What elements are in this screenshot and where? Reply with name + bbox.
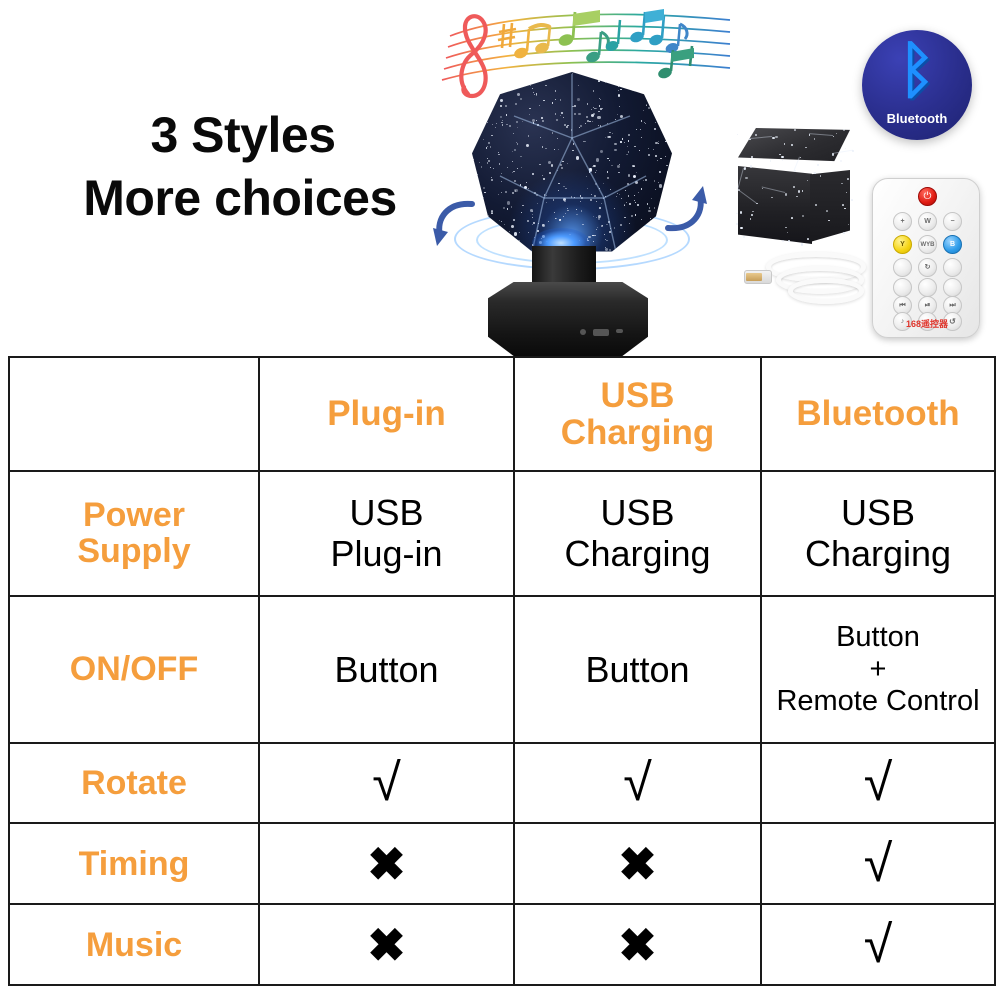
rotation-arrow-left-icon: [432, 194, 478, 254]
headline-line-1: 3 Styles: [40, 104, 440, 166]
cell-check-3-2: √: [761, 823, 995, 904]
cell-cross-4-1: ✖: [514, 904, 761, 985]
lamp-base: [488, 282, 648, 356]
headline-line-2: More choices: [40, 166, 440, 230]
bluetooth-badge-label: Bluetooth: [862, 111, 972, 126]
row-label-2: Rotate: [9, 743, 259, 824]
hero-section: 3 Styles More choices: [0, 0, 1000, 356]
column-header-0: Plug-in: [259, 357, 514, 471]
constellation-gift-box: [736, 128, 856, 246]
cross-icon: ✖: [618, 919, 657, 971]
infographic-canvas: 3 Styles More choices: [0, 0, 1000, 1000]
cell-check-4-2: √: [761, 904, 995, 985]
remote-button-rotate[interactable]: ↻: [918, 258, 937, 277]
cell-check-2-2: √: [761, 743, 995, 824]
cell-check-2-0: √: [259, 743, 514, 824]
row-label-0: PowerSupply: [9, 471, 259, 597]
cell-value-0-0: USBPlug-in: [259, 471, 514, 597]
check-icon: √: [864, 754, 893, 812]
column-header-2: Bluetooth: [761, 357, 995, 471]
usb-contacts: [746, 273, 762, 281]
cell-cross-3-0: ✖: [259, 823, 514, 904]
table-row: Music✖✖√: [9, 904, 995, 985]
bluetooth-icon: ᛒ: [862, 36, 972, 106]
cell-check-2-1: √: [514, 743, 761, 824]
remote-control: ⏻ + W − Y WYB B ↻ ⏮ ⏯ ⏭ ♪ ↺ 168遥控器: [872, 178, 980, 338]
table-row: PowerSupplyUSBPlug-inUSBChargingUSBCharg…: [9, 471, 995, 597]
table-row: ON/OFFButtonButtonButton+Remote Control: [9, 596, 995, 743]
table-header-row: Plug-inUSBChargingBluetooth: [9, 357, 995, 471]
remote-button-blue[interactable]: B: [943, 235, 962, 254]
table-corner-cell: [9, 357, 259, 471]
star-projector-lamp: [448, 60, 696, 356]
remote-button-rgb[interactable]: [893, 258, 912, 277]
check-icon: √: [864, 916, 893, 974]
remote-button-yellow[interactable]: Y: [893, 235, 912, 254]
row-label-3: Timing: [9, 823, 259, 904]
cross-icon: ✖: [618, 838, 657, 890]
remote-button-minus[interactable]: −: [943, 212, 962, 231]
remote-power-button[interactable]: ⏻: [918, 187, 937, 206]
base-ports: [580, 328, 624, 336]
cell-value-0-1: USBCharging: [514, 471, 761, 597]
cross-icon: ✖: [367, 838, 406, 890]
remote-model-code: 168遥控器: [873, 317, 981, 330]
remote-button-timer-10[interactable]: [893, 278, 912, 297]
bluetooth-badge: ᛒ Bluetooth: [862, 30, 972, 140]
cell-value-1-0: Button: [259, 596, 514, 743]
rotation-arrow-right-icon: [662, 180, 708, 240]
table-row: Rotate√√√: [9, 743, 995, 824]
cell-cross-3-1: ✖: [514, 823, 761, 904]
check-icon: √: [372, 754, 401, 812]
table-row: Timing✖✖√: [9, 823, 995, 904]
check-icon: √: [623, 754, 652, 812]
check-icon: √: [864, 835, 893, 893]
cell-cross-4-0: ✖: [259, 904, 514, 985]
cell-value-0-2: USBCharging: [761, 471, 995, 597]
page-title: 3 Styles More choices: [40, 104, 440, 230]
remote-button-timer-60[interactable]: [943, 278, 962, 297]
cell-value-1-2: Button+Remote Control: [761, 596, 995, 743]
row-label-1: ON/OFF: [9, 596, 259, 743]
cross-icon: ✖: [367, 919, 406, 971]
usb-cable: [742, 246, 872, 314]
cell-value-1-1: Button: [514, 596, 761, 743]
cable-loop-3: [788, 278, 864, 304]
remote-button-auto[interactable]: [943, 258, 962, 277]
comparison-table: Plug-inUSBChargingBluetoothPowerSupplyUS…: [8, 356, 994, 986]
column-header-1: USBCharging: [514, 357, 761, 471]
remote-button-wyb[interactable]: WYB: [918, 235, 937, 254]
remote-button-white[interactable]: W: [918, 212, 937, 231]
box-constellation-pattern: [736, 128, 856, 246]
remote-button-bright-up[interactable]: [918, 278, 937, 297]
remote-button-plus[interactable]: +: [893, 212, 912, 231]
row-label-4: Music: [9, 904, 259, 985]
